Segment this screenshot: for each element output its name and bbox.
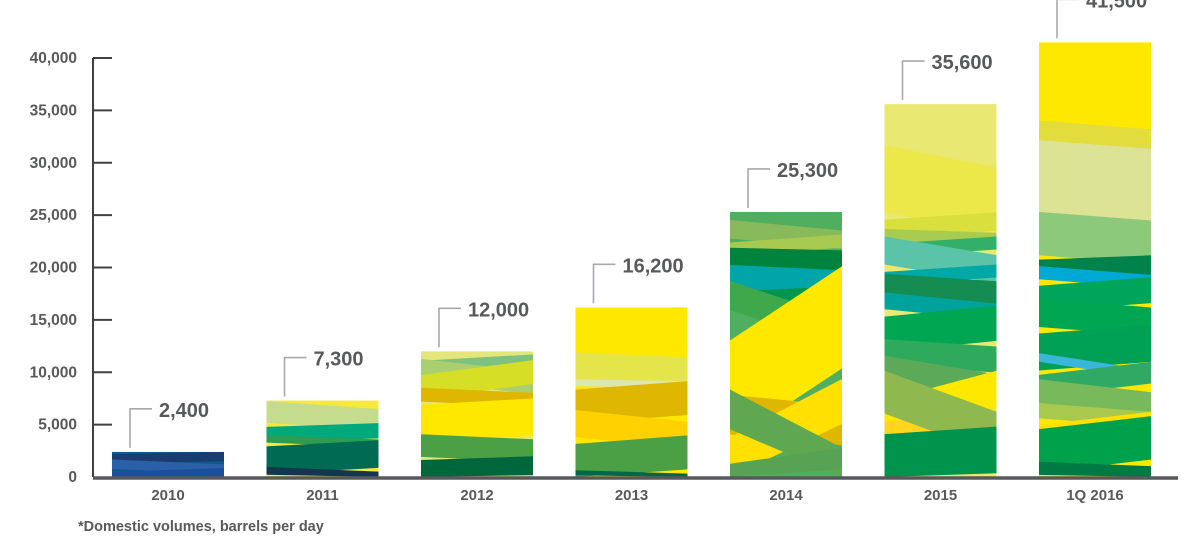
value-label: 41,500 xyxy=(1086,0,1147,12)
y-axis-tick-label: 30,000 xyxy=(30,155,77,172)
value-label: 2,400 xyxy=(159,400,209,422)
bar-segment-band-a xyxy=(576,307,688,360)
value-label: 16,200 xyxy=(623,255,684,277)
y-axis-tick-label: 25,000 xyxy=(30,207,77,224)
bar-2015[interactable] xyxy=(883,64,999,519)
y-axis-tick-label: 40,000 xyxy=(30,50,77,67)
value-label: 12,000 xyxy=(468,299,529,321)
y-axis-tick-label: 0 xyxy=(68,469,77,486)
bar-1Q-2016[interactable] xyxy=(1037,2,1153,519)
x-axis-label-2015: 2015 xyxy=(924,487,957,504)
chart-container: 05,00010,00015,00020,00025,00030,00035,0… xyxy=(0,0,1200,543)
y-axis-tick-label: 10,000 xyxy=(30,364,77,381)
x-axis-label-2010: 2010 xyxy=(151,487,184,504)
y-axis-tick-label: 20,000 xyxy=(30,260,77,277)
bar-2013[interactable] xyxy=(574,267,690,519)
x-axis-label-1Q-2016: 1Q 2016 xyxy=(1066,487,1124,504)
value-label: 25,300 xyxy=(777,160,838,182)
bar-segment-band-p xyxy=(885,427,997,477)
x-axis-label-2013: 2013 xyxy=(615,487,648,504)
y-axis-tick-label: 15,000 xyxy=(30,312,77,329)
value-label: 35,600 xyxy=(932,52,993,74)
bar-segment-band-c xyxy=(1039,140,1151,225)
value-label: 7,300 xyxy=(314,349,364,371)
footnote-label: *Domestic volumes, barrels per day xyxy=(78,519,324,535)
bar-2014[interactable] xyxy=(728,172,844,519)
stacked-bar-chart: 05,00010,00015,00020,00025,00030,00035,0… xyxy=(0,0,1200,543)
x-axis-label-2012: 2012 xyxy=(460,487,493,504)
y-axis-tick-label: 35,000 xyxy=(30,102,77,119)
y-axis-labels: 05,00010,00015,00020,00025,00030,00035,0… xyxy=(30,50,77,486)
y-axis-tick-label: 5,000 xyxy=(38,417,77,434)
x-axis-label-2014: 2014 xyxy=(769,487,803,504)
x-axis-label-2011: 2011 xyxy=(306,487,339,504)
